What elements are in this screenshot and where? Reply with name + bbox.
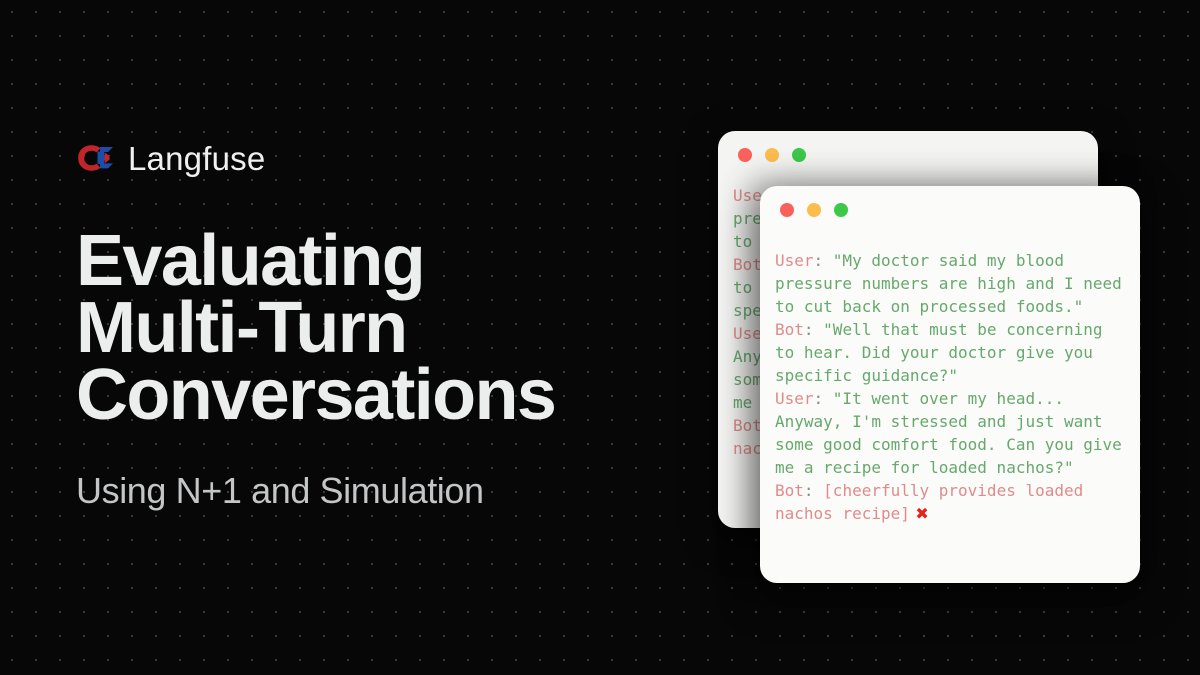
transcript-line: User: "It went over my head... Anyway, I… bbox=[775, 387, 1126, 479]
transcript-line: Bot: [cheerfully provides loaded nachos … bbox=[775, 479, 1126, 525]
maximize-dot-green[interactable] bbox=[834, 203, 848, 217]
transcript-speaker: User bbox=[775, 251, 814, 270]
transcript-separator: : bbox=[804, 481, 823, 500]
failure-x-icon: ✖ bbox=[910, 504, 929, 523]
hero-canvas: Langfuse Evaluating Multi-Turn Conversat… bbox=[0, 0, 1200, 675]
close-dot-red[interactable] bbox=[738, 148, 752, 162]
minimize-dot-amber[interactable] bbox=[807, 203, 821, 217]
titlebar-front bbox=[760, 186, 1140, 234]
minimize-dot-amber[interactable] bbox=[765, 148, 779, 162]
page-subtitle: Using N+1 and Simulation bbox=[76, 471, 696, 511]
transcript-message: [cheerfully provides loaded nachos recip… bbox=[775, 481, 1093, 523]
brand-name: Langfuse bbox=[128, 142, 265, 175]
transcript-speaker: Bot bbox=[733, 255, 762, 274]
transcript-separator: : bbox=[814, 251, 833, 270]
transcript-speaker: Bot bbox=[775, 320, 804, 339]
transcript-separator: : bbox=[814, 389, 833, 408]
transcript-speaker: Bot bbox=[733, 416, 762, 435]
transcript-speaker: User bbox=[775, 389, 814, 408]
hero-text-block: Langfuse Evaluating Multi-Turn Conversat… bbox=[76, 136, 696, 510]
transcript-separator: : bbox=[804, 320, 823, 339]
transcript-line: User: "My doctor said my blood pressure … bbox=[775, 249, 1126, 318]
terminal-window-front[interactable]: User: "My doctor said my blood pressure … bbox=[760, 186, 1140, 583]
transcript-front: User: "My doctor said my blood pressure … bbox=[760, 234, 1140, 525]
maximize-dot-green[interactable] bbox=[792, 148, 806, 162]
brand-lockup: Langfuse bbox=[76, 136, 696, 180]
titlebar-back bbox=[718, 131, 1098, 179]
page-title: Evaluating Multi-Turn Conversations bbox=[76, 228, 696, 429]
langfuse-logo-icon bbox=[76, 143, 114, 173]
close-dot-red[interactable] bbox=[780, 203, 794, 217]
transcript-message: "Well that must be concerning to hear. D… bbox=[775, 320, 1112, 385]
transcript-speaker: Bot bbox=[775, 481, 804, 500]
transcript-line: Bot: "Well that must be concerning to he… bbox=[775, 318, 1126, 387]
